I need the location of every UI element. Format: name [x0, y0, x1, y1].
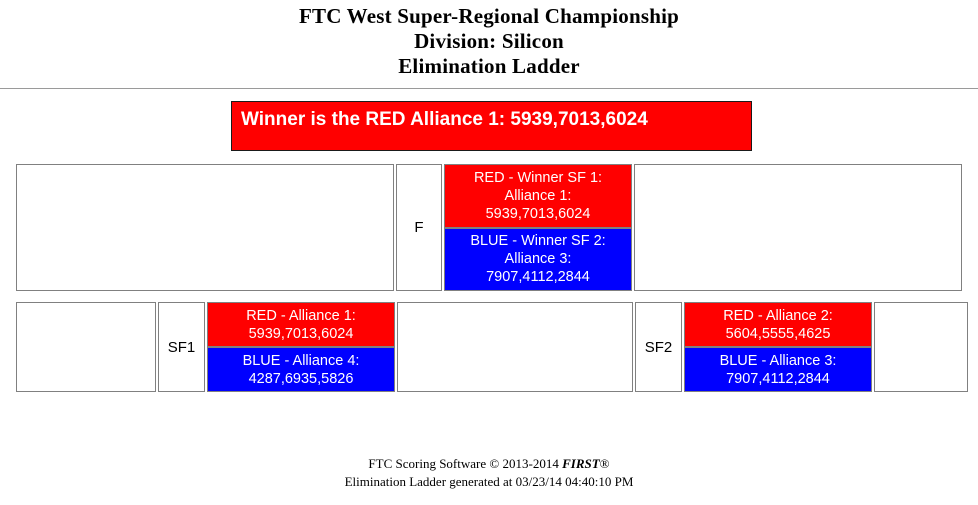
footer-first-mark: FIRST — [562, 456, 600, 471]
finals-red-line1: RED - Winner SF 1: — [474, 170, 602, 186]
sf1-match-box: RED - Alliance 1: 5939,7013,6024 BLUE - … — [207, 302, 395, 392]
footer-copyright-prefix: FTC Scoring Software © 2013-2014 — [368, 456, 562, 471]
semis-right-spacer — [874, 302, 968, 392]
finals-red-line2: Alliance 1: — [505, 188, 572, 204]
finals-match-box: RED - Winner SF 1: Alliance 1: 5939,7013… — [444, 164, 632, 291]
finals-blue-line3: 7907,4112,2844 — [486, 269, 590, 285]
sf1-blue-alliance: BLUE - Alliance 4: 4287,6935,5826 — [207, 347, 395, 392]
sf2-match-label-cell: SF2 — [635, 302, 682, 392]
finals-right-spacer — [634, 164, 962, 291]
footer-copyright-suffix: ® — [600, 456, 610, 471]
sf1-blue-line1: BLUE - Alliance 4: — [243, 353, 360, 369]
sf2-blue-alliance: BLUE - Alliance 3: 7907,4112,2844 — [684, 347, 872, 392]
finals-match-label-cell: F — [396, 164, 442, 291]
page-title-event: FTC West Super-Regional Championship — [0, 4, 978, 29]
sf1-match-label: SF1 — [168, 339, 196, 356]
finals-match-label: F — [414, 219, 423, 236]
sf1-red-alliance: RED - Alliance 1: 5939,7013,6024 — [207, 302, 395, 347]
semis-middle-spacer — [397, 302, 633, 392]
sf1-match-label-cell: SF1 — [158, 302, 205, 392]
sf1-blue-line2: 4287,6935,5826 — [249, 371, 354, 387]
finals-left-spacer — [16, 164, 394, 291]
elimination-bracket: F RED - Winner SF 1: Alliance 1: 5939,70… — [0, 151, 978, 392]
sf2-blue-line1: BLUE - Alliance 3: — [720, 353, 837, 369]
sf2-blue-line2: 7907,4112,2844 — [726, 371, 830, 387]
page-title-report: Elimination Ladder — [0, 54, 978, 79]
sf2-match-label: SF2 — [645, 339, 673, 356]
footer-copyright-line: FTC Scoring Software © 2013-2014 FIRST® — [0, 455, 978, 473]
footer-generated-line: Elimination Ladder generated at 03/23/14… — [0, 473, 978, 491]
page-title-division: Division: Silicon — [0, 29, 978, 54]
winner-banner-container: Winner is the RED Alliance 1: 5939,7013,… — [0, 89, 978, 151]
sf2-match-box: RED - Alliance 2: 5604,5555,4625 BLUE - … — [684, 302, 872, 392]
sf1-red-line2: 5939,7013,6024 — [249, 326, 354, 342]
finals-blue-alliance: BLUE - Winner SF 2: Alliance 3: 7907,411… — [444, 228, 632, 292]
sf2-red-alliance: RED - Alliance 2: 5604,5555,4625 — [684, 302, 872, 347]
finals-red-line3: 5939,7013,6024 — [486, 206, 591, 222]
semifinals-row: SF1 RED - Alliance 1: 5939,7013,6024 BLU… — [16, 302, 978, 392]
finals-red-alliance: RED - Winner SF 1: Alliance 1: 5939,7013… — [444, 164, 632, 228]
page-header: FTC West Super-Regional Championship Div… — [0, 0, 978, 79]
sf2-red-line2: 5604,5555,4625 — [726, 326, 831, 342]
finals-row: F RED - Winner SF 1: Alliance 1: 5939,70… — [16, 164, 978, 291]
sf2-red-line1: RED - Alliance 2: — [723, 308, 833, 324]
semis-left-spacer — [16, 302, 156, 392]
page-footer: FTC Scoring Software © 2013-2014 FIRST® … — [0, 455, 978, 491]
sf1-red-line1: RED - Alliance 1: — [246, 308, 356, 324]
finals-blue-line1: BLUE - Winner SF 2: — [470, 233, 605, 249]
winner-banner: Winner is the RED Alliance 1: 5939,7013,… — [231, 101, 752, 151]
finals-blue-line2: Alliance 3: — [505, 251, 572, 267]
